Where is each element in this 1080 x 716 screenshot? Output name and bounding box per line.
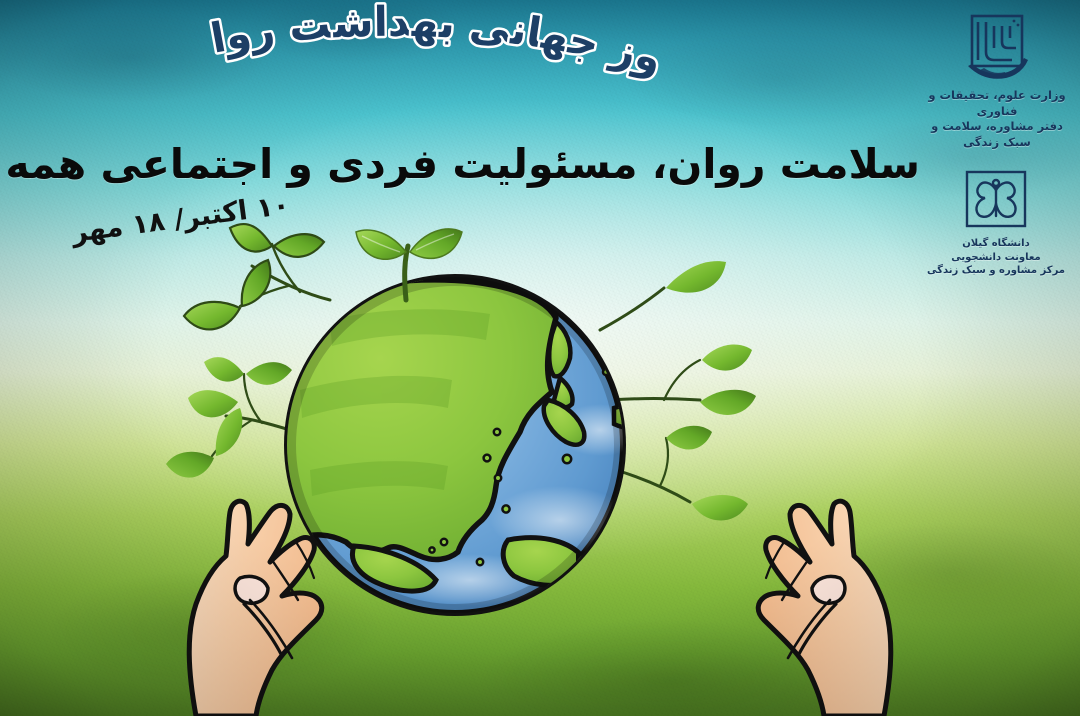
- ministry-logo-line1: وزارت علوم، تحقیقات و فناوری: [922, 88, 1072, 119]
- arched-title: روز جهانی بهداشت روان: [200, 16, 660, 126]
- poster-canvas: روز جهانی بهداشت روان سلامت روان، مسئولی…: [0, 0, 1080, 716]
- saop-student-affairs-organization-emblem: [954, 12, 1040, 88]
- university-logo-line1: دانشگاه گیلان: [926, 237, 1066, 251]
- university-logo-block: دانشگاه گیلان معاونت دانشجویی مرکز مشاور…: [926, 168, 1066, 278]
- university-of-gilan-emblem: [961, 168, 1031, 234]
- page-title: سلامت روان، مسئولیت فردی و اجتماعی همه م…: [160, 140, 920, 188]
- ministry-logo-block: وزارت علوم، تحقیقات و فناوری دفتر مشاوره…: [922, 12, 1072, 150]
- university-logo-line3: مرکز مشاوره و سبک زندگی: [926, 264, 1066, 278]
- ministry-logo-line2: دفتر مشاوره، سلامت و سبک زندگی: [922, 119, 1072, 150]
- university-logo-line2: معاونت دانشجویی: [926, 251, 1066, 265]
